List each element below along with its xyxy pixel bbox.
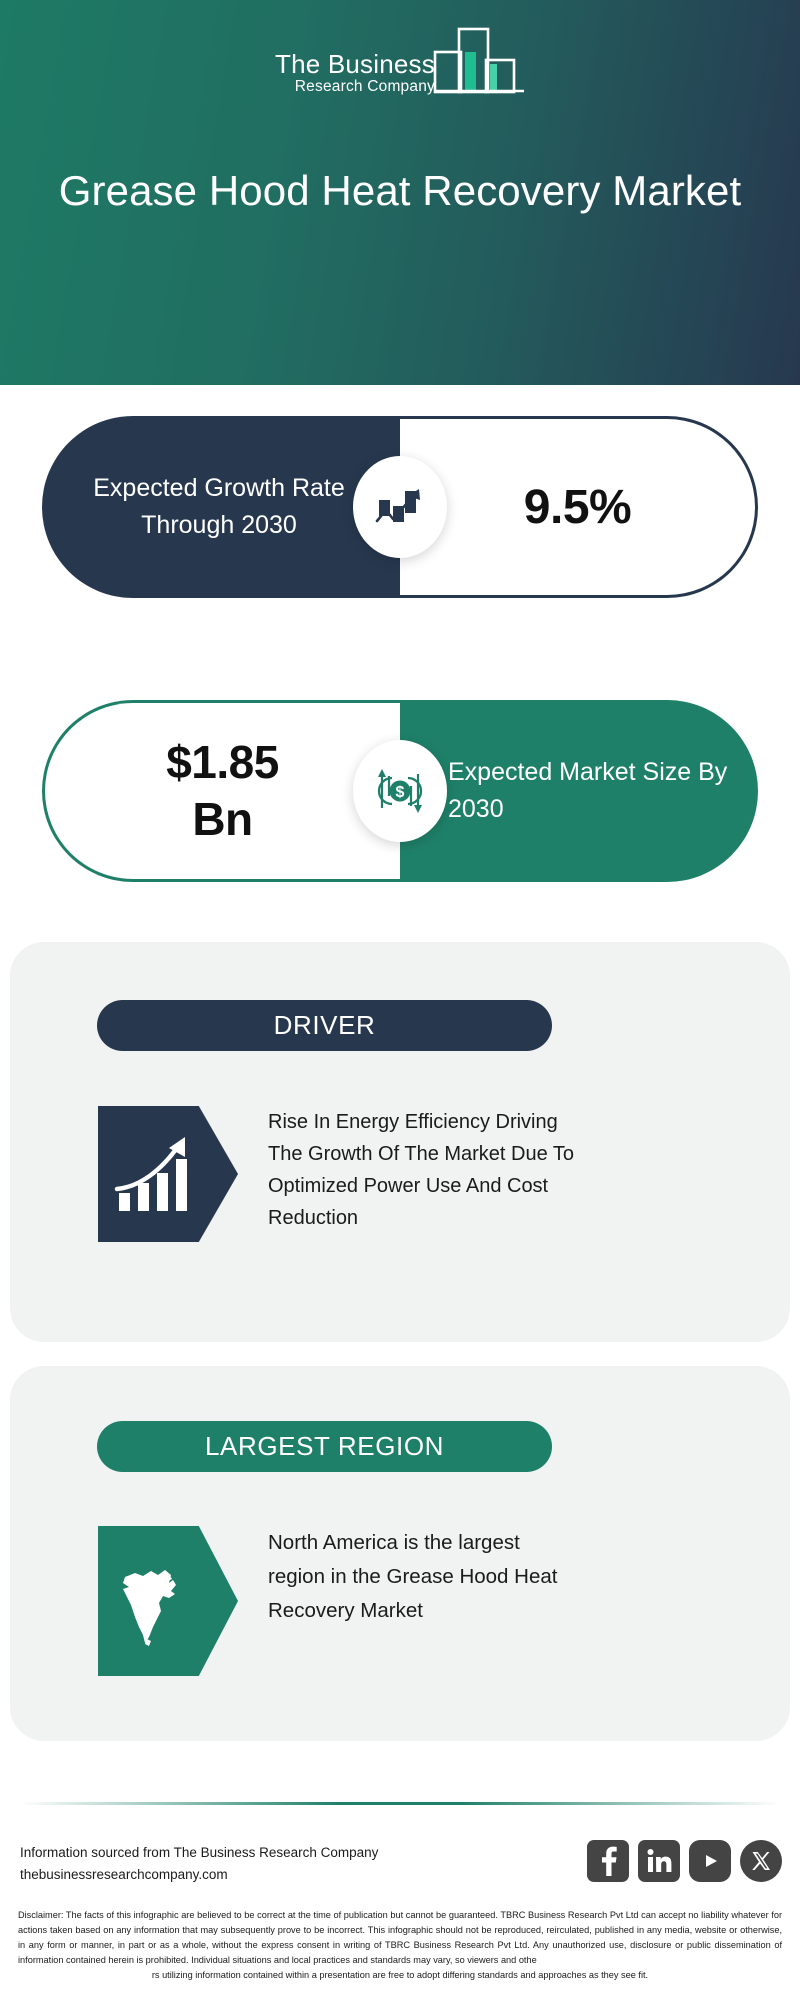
page-title: Grease Hood Heat Recovery Market	[40, 165, 760, 217]
stat-card-growth-rate: Expected Growth Rate Through 2030 9.5%	[42, 416, 758, 598]
stat-size-value: $1.85 Bn	[166, 734, 279, 849]
region-content-row: North America is the largest region in t…	[98, 1526, 568, 1676]
linkedin-icon[interactable]	[638, 1840, 680, 1882]
svg-text:$: $	[396, 784, 405, 801]
infographic-page: The Business Research Company Grease Hoo…	[0, 0, 800, 2000]
disclaimer-last-line: rs utilizing information contained withi…	[18, 1968, 782, 1983]
stat-growth-value-half: 9.5%	[400, 416, 758, 598]
disclaimer-main: Disclaimer: The facts of this infographi…	[18, 1910, 782, 1965]
stat-size-value-half: $1.85 Bn	[42, 700, 400, 882]
youtube-icon[interactable]	[689, 1840, 731, 1882]
stat-size-label-half: Expected Market Size By 2030	[400, 700, 758, 882]
social-links	[587, 1840, 782, 1882]
dollar-cycle-icon: $	[353, 740, 447, 842]
company-logo: The Business Research Company	[0, 24, 800, 101]
pill-largest-region-label: LARGEST REGION	[97, 1421, 552, 1472]
rising-bar-chart-icon	[98, 1106, 238, 1242]
logo-title: The Business	[275, 51, 435, 78]
disclaimer-text: Disclaimer: The facts of this infographi…	[18, 1908, 782, 1983]
panel-largest-region: LARGEST REGION North America is the larg…	[10, 1366, 790, 1741]
x-twitter-icon[interactable]	[740, 1840, 782, 1882]
stat-growth-label-half: Expected Growth Rate Through 2030	[42, 416, 400, 598]
footer-divider	[20, 1802, 780, 1805]
source-line-1: Information sourced from The Business Re…	[20, 1842, 480, 1864]
driver-body-text: Rise In Energy Efficiency Driving The Gr…	[238, 1106, 593, 1234]
stat-size-label: Expected Market Size By 2030	[400, 754, 758, 829]
north-america-map-icon	[98, 1526, 238, 1676]
region-body-text: North America is the largest region in t…	[238, 1526, 568, 1627]
growth-chart-arrow-icon	[353, 456, 447, 558]
stat-growth-label: Expected Growth Rate Through 2030	[42, 470, 400, 545]
stat-size-value-line1: $1.85	[166, 734, 279, 792]
stat-card-market-size: $1.85 Bn Expected Market Size By 2030 $	[42, 700, 758, 882]
facebook-icon[interactable]	[587, 1840, 629, 1882]
logo-subtitle: Research Company	[275, 78, 435, 95]
driver-content-row: Rise In Energy Efficiency Driving The Gr…	[98, 1106, 593, 1242]
source-attribution: Information sourced from The Business Re…	[20, 1842, 480, 1887]
bar-chart-logo-mark	[433, 24, 525, 101]
source-line-2[interactable]: thebusinessresearchcompany.com	[20, 1864, 480, 1886]
pill-driver-label: DRIVER	[97, 1000, 552, 1051]
header-banner: The Business Research Company Grease Hoo…	[0, 0, 800, 385]
stat-growth-value: 9.5%	[524, 480, 631, 535]
stat-size-value-line2: Bn	[166, 791, 279, 849]
panel-driver: DRIVER Rise In Energy Efficiency Driving…	[10, 942, 790, 1342]
